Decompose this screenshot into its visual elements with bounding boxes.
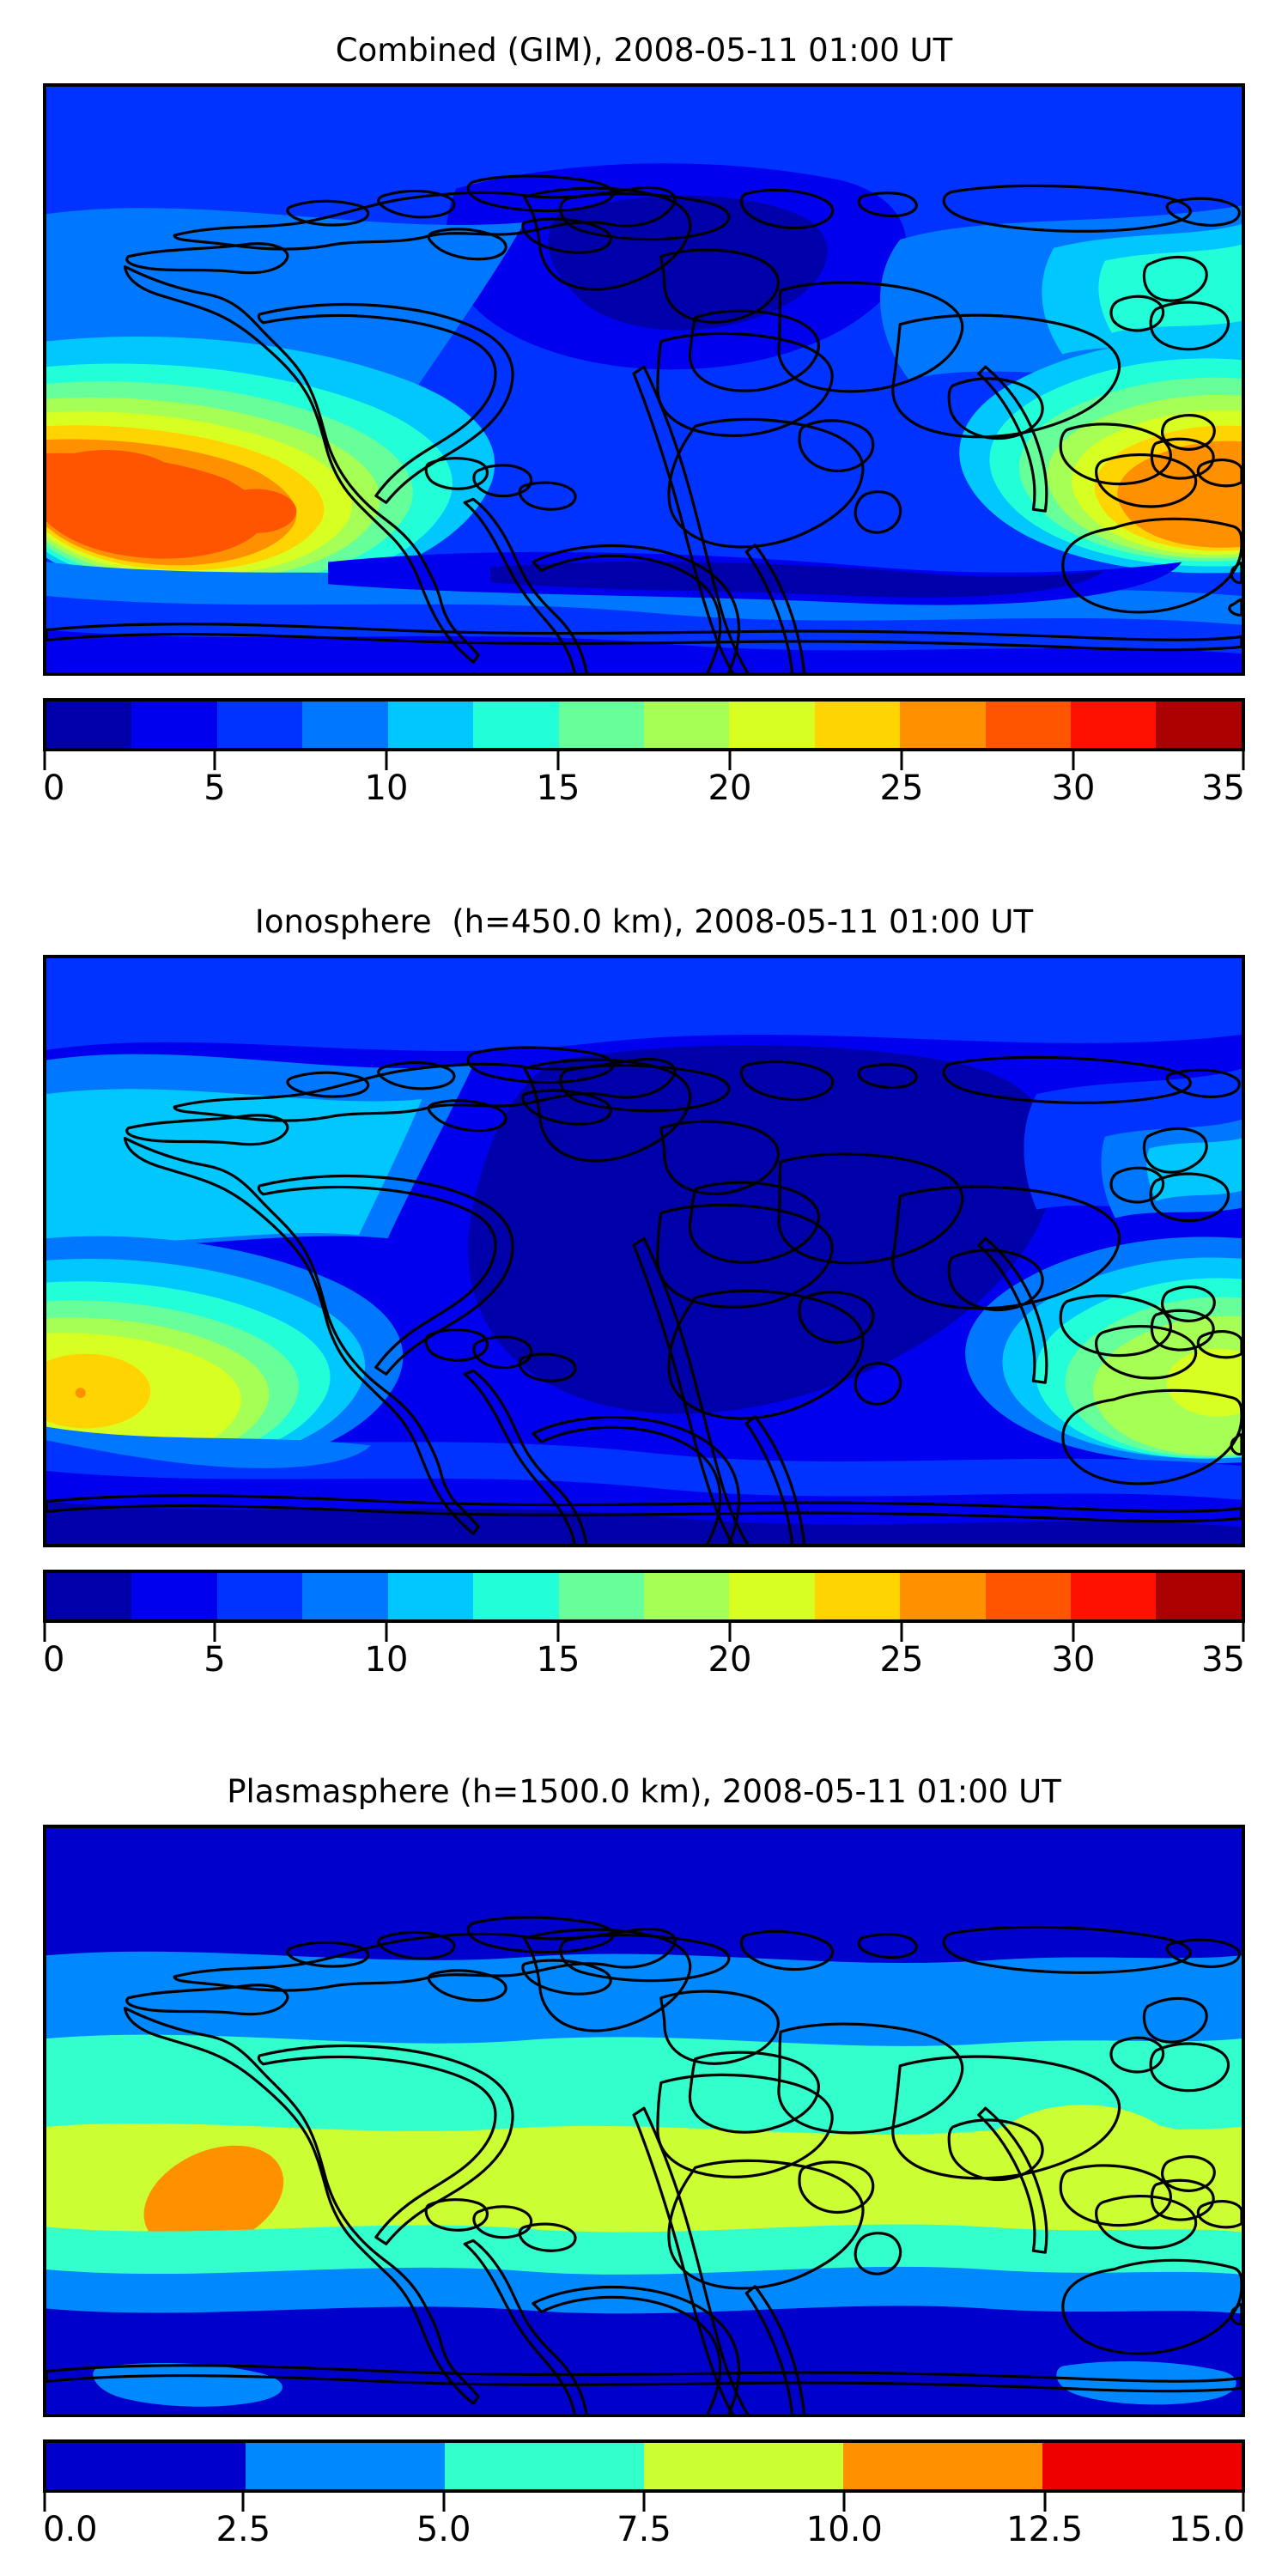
colorbar-tick-label-4: 10.0 bbox=[806, 2512, 883, 2548]
colorbar-band-4 bbox=[843, 2443, 1042, 2489]
colorbar-band-12 bbox=[1071, 1573, 1156, 1619]
colorbar-tick-1 bbox=[214, 751, 216, 770]
colorbar-tick-label-2: 5.0 bbox=[416, 2512, 471, 2548]
colorbar-tick-label-5: 12.5 bbox=[1006, 2512, 1083, 2548]
colorbar-band-8 bbox=[729, 702, 814, 748]
colorbar-tick-label-3: 15 bbox=[537, 1642, 580, 1678]
colorbar-tick-0 bbox=[44, 1623, 46, 1642]
map-axes-plasmasphere bbox=[43, 1825, 1245, 2417]
panel-title: Plasmasphere (h=1500.0 km), 2008-05-11 0… bbox=[0, 1776, 1288, 1807]
colorbar-tick-label-7: 35 bbox=[1201, 1642, 1245, 1678]
colorbar-band-0 bbox=[46, 702, 131, 748]
colorbar-band-4 bbox=[388, 1573, 473, 1619]
colorbar-band-2 bbox=[445, 2443, 644, 2489]
colorbar-tick-label-3: 7.5 bbox=[617, 2512, 671, 2548]
colorbar-tick-3 bbox=[557, 1623, 560, 1642]
colorbar-tick-3 bbox=[643, 2493, 646, 2512]
colorbar-tick-label-4: 20 bbox=[708, 770, 752, 806]
colorbar-tick-7 bbox=[1242, 751, 1245, 770]
colorbar-tick-label-3: 15 bbox=[537, 770, 580, 806]
map-axes-ionosphere bbox=[43, 955, 1245, 1547]
colorbar-band-9 bbox=[815, 1573, 900, 1619]
colorbar-tick-labels: 05101520253035 bbox=[43, 770, 1245, 815]
colorbar-band-1 bbox=[131, 1573, 216, 1619]
colorbar-band-2 bbox=[217, 1573, 302, 1619]
colorbar-tick-6 bbox=[1072, 1623, 1075, 1642]
colorbar-band-7 bbox=[644, 1573, 729, 1619]
colorbar-ticks bbox=[43, 2493, 1245, 2512]
colorbar-band-11 bbox=[986, 1573, 1071, 1619]
colorbar-band-13 bbox=[1156, 1573, 1241, 1619]
tec-map-combined-gim bbox=[46, 87, 1242, 672]
colorbar-band-3 bbox=[644, 2443, 843, 2489]
colorbar-tick-label-0: 0.0 bbox=[43, 2512, 98, 2548]
colorbar-combined-gim: 05101520253035 bbox=[43, 698, 1245, 815]
colorbar-band-0 bbox=[46, 1573, 131, 1619]
tec-figure: Combined (GIM), 2008-05-11 01:00 UT bbox=[0, 0, 1288, 2576]
colorbar-band-3 bbox=[302, 1573, 387, 1619]
tec-map-plasmasphere bbox=[46, 1828, 1242, 2414]
colorbar-band-1 bbox=[246, 2443, 445, 2489]
colorbar-tick-4 bbox=[729, 751, 732, 770]
colorbar-bands bbox=[43, 1570, 1245, 1623]
colorbar-tick-label-4: 20 bbox=[708, 1642, 752, 1678]
colorbar-tick-label-1: 2.5 bbox=[216, 2512, 271, 2548]
colorbar-tick-label-6: 30 bbox=[1052, 770, 1096, 806]
colorbar-ionosphere: 05101520253035 bbox=[43, 1570, 1245, 1686]
colorbar-band-6 bbox=[559, 1573, 644, 1619]
colorbar-tick-6 bbox=[1242, 2493, 1245, 2512]
colorbar-band-12 bbox=[1071, 702, 1156, 748]
colorbar-plasmasphere: 0.02.55.07.510.012.515.0 bbox=[43, 2439, 1245, 2556]
colorbar-tick-label-1: 5 bbox=[204, 1642, 225, 1678]
panel-title: Combined (GIM), 2008-05-11 01:00 UT bbox=[0, 34, 1288, 66]
colorbar-bands bbox=[43, 698, 1245, 751]
colorbar-band-10 bbox=[900, 702, 985, 748]
colorbar-band-13 bbox=[1156, 702, 1241, 748]
colorbar-tick-label-2: 10 bbox=[365, 1642, 409, 1678]
colorbar-tick-label-6: 15.0 bbox=[1169, 2512, 1245, 2548]
colorbar-tick-0 bbox=[44, 2493, 46, 2512]
colorbar-tick-label-1: 5 bbox=[204, 770, 225, 806]
colorbar-band-6 bbox=[559, 702, 644, 748]
panel-ionosphere: Ionosphere (h=450.0 km), 2008-05-11 01:0… bbox=[0, 906, 1288, 1686]
colorbar-tick-5 bbox=[901, 751, 903, 770]
colorbar-band-3 bbox=[302, 702, 387, 748]
colorbar-tick-5 bbox=[901, 1623, 903, 1642]
colorbar-tick-label-6: 30 bbox=[1052, 1642, 1096, 1678]
colorbar-band-0 bbox=[46, 2443, 246, 2489]
colorbar-band-7 bbox=[644, 702, 729, 748]
colorbar-bands bbox=[43, 2439, 1245, 2493]
colorbar-band-8 bbox=[729, 1573, 814, 1619]
colorbar-tick-2 bbox=[386, 751, 388, 770]
colorbar-tick-label-5: 25 bbox=[880, 770, 924, 806]
colorbar-tick-6 bbox=[1072, 751, 1075, 770]
colorbar-tick-2 bbox=[442, 2493, 445, 2512]
colorbar-band-2 bbox=[217, 702, 302, 748]
colorbar-tick-labels: 0.02.55.07.510.012.515.0 bbox=[43, 2512, 1245, 2556]
colorbar-tick-label-0: 0 bbox=[43, 1642, 64, 1678]
colorbar-band-11 bbox=[986, 702, 1071, 748]
colorbar-tick-0 bbox=[44, 751, 46, 770]
colorbar-tick-1 bbox=[242, 2493, 245, 2512]
colorbar-band-9 bbox=[815, 702, 900, 748]
colorbar-tick-7 bbox=[1242, 1623, 1245, 1642]
colorbar-band-5 bbox=[1042, 2443, 1242, 2489]
colorbar-tick-label-0: 0 bbox=[43, 770, 64, 806]
colorbar-band-5 bbox=[473, 1573, 558, 1619]
map-axes-combined-gim bbox=[43, 83, 1245, 676]
colorbar-tick-4 bbox=[729, 1623, 732, 1642]
colorbar-tick-label-5: 25 bbox=[880, 1642, 924, 1678]
panel-title: Ionosphere (h=450.0 km), 2008-05-11 01:0… bbox=[0, 906, 1288, 938]
colorbar-band-4 bbox=[388, 702, 473, 748]
tec-map-ionosphere bbox=[46, 958, 1242, 1544]
colorbar-band-1 bbox=[131, 702, 216, 748]
panel-combined-gim: Combined (GIM), 2008-05-11 01:00 UT bbox=[0, 34, 1288, 815]
colorbar-band-10 bbox=[900, 1573, 985, 1619]
colorbar-tick-label-7: 35 bbox=[1201, 770, 1245, 806]
panel-plasmasphere: Plasmasphere (h=1500.0 km), 2008-05-11 0… bbox=[0, 1776, 1288, 2556]
colorbar-tick-2 bbox=[386, 1623, 388, 1642]
colorbar-band-5 bbox=[473, 702, 558, 748]
colorbar-ticks bbox=[43, 751, 1245, 770]
colorbar-tick-label-2: 10 bbox=[365, 770, 409, 806]
colorbar-tick-5 bbox=[1043, 2493, 1046, 2512]
colorbar-tick-3 bbox=[557, 751, 560, 770]
colorbar-tick-1 bbox=[214, 1623, 216, 1642]
colorbar-tick-labels: 05101520253035 bbox=[43, 1642, 1245, 1686]
colorbar-tick-4 bbox=[843, 2493, 846, 2512]
colorbar-ticks bbox=[43, 1623, 1245, 1642]
